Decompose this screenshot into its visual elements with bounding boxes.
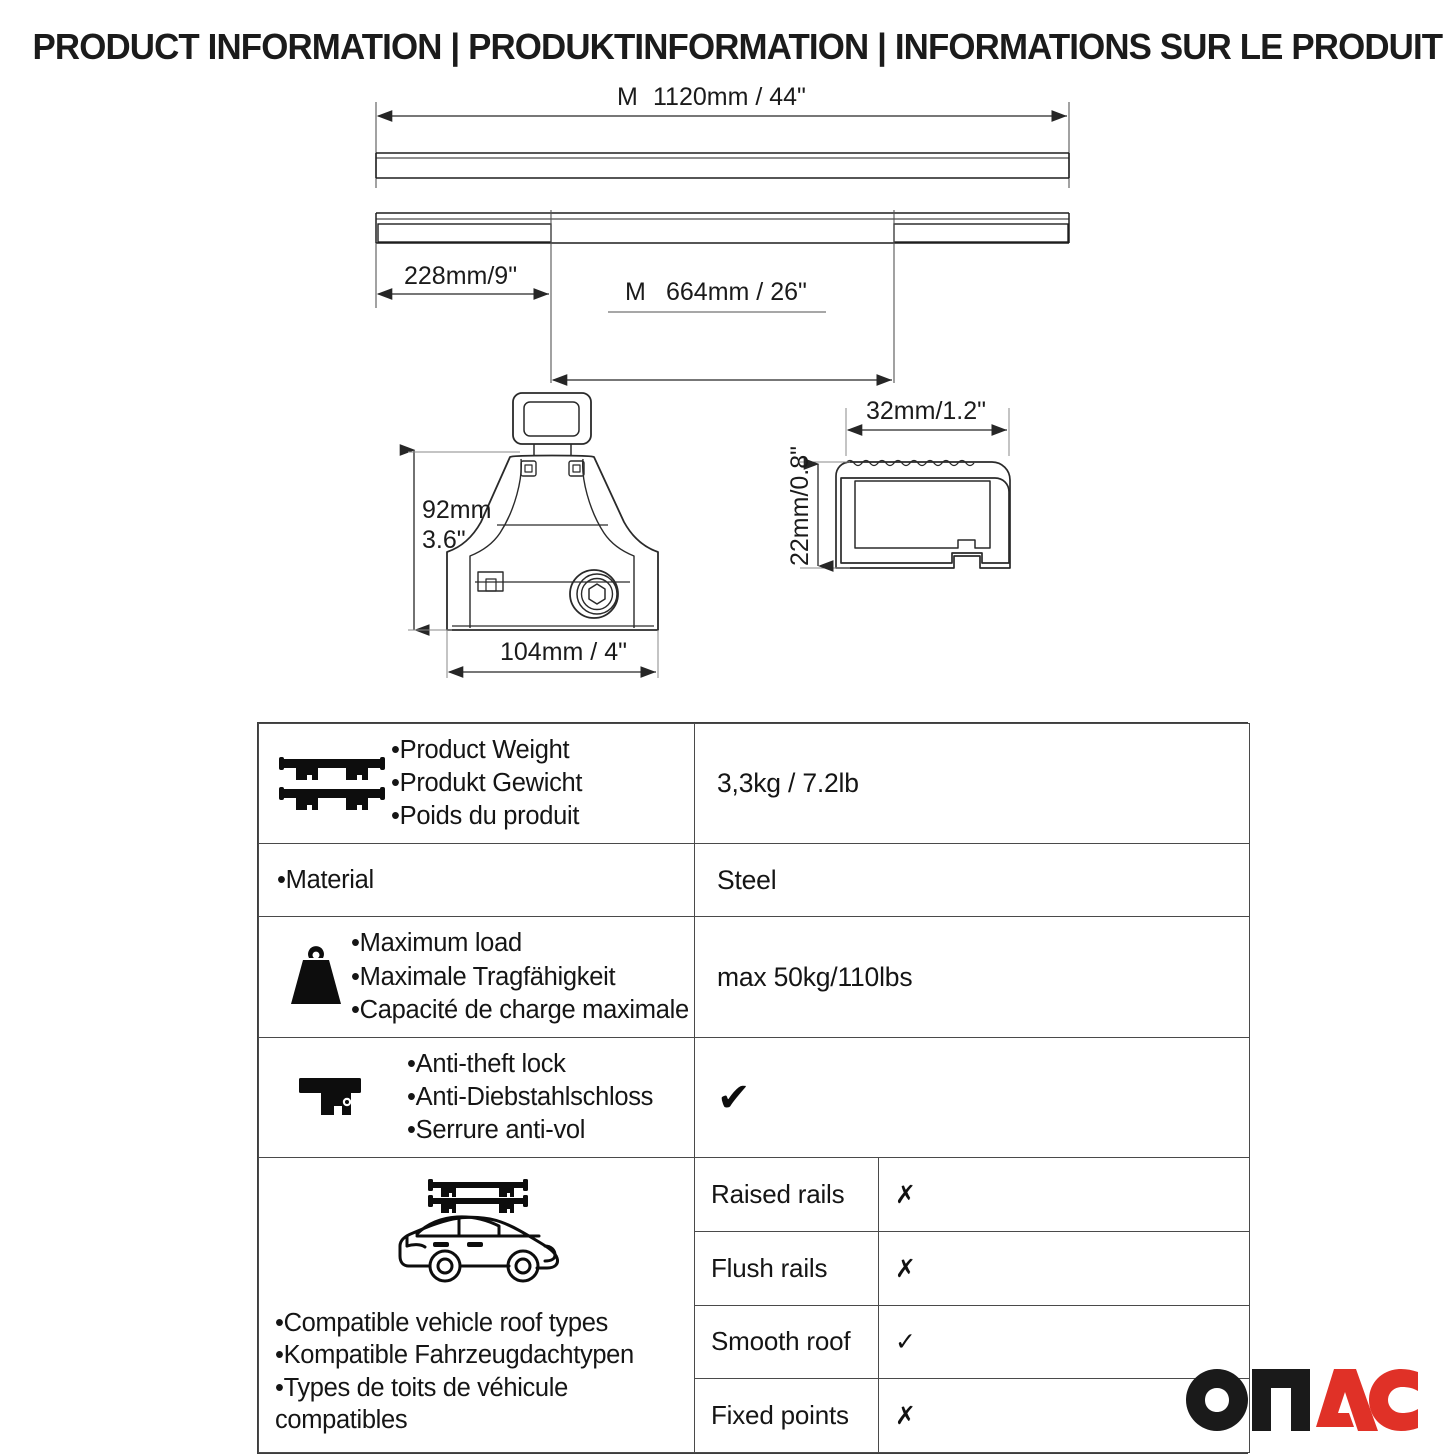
- roof-type-flush-rails-mark: ✗: [879, 1240, 1249, 1297]
- weight-label-en: •Product Weight: [391, 734, 688, 767]
- weight-label-cell: •Product Weight •Produkt Gewicht •Poids …: [259, 724, 695, 844]
- weight-label-de: •Produkt Gewicht: [391, 767, 688, 800]
- bar-profile-with-feet: [376, 213, 1069, 243]
- roof-type-smooth-roof-label: Smooth roof: [695, 1312, 878, 1371]
- lock-icon: [273, 1074, 391, 1122]
- maxload-label-cell: •Maximum load •Maximale Tragfähigkeit •C…: [259, 917, 695, 1037]
- compatibility-label-de: •Kompatible Fahrzeugdachtypen: [275, 1339, 684, 1371]
- maxload-label-fr: •Capacité de charge maximale: [351, 994, 689, 1027]
- profile-cross-section: [836, 461, 1010, 569]
- profile-width-value: 32mm/1.2": [866, 397, 986, 425]
- lock-value-cell: ✔: [695, 1037, 1250, 1157]
- foot-spacing-value: 664mm / 26": [666, 278, 807, 306]
- profile-width-dimension: 32mm/1.2": [846, 397, 1009, 456]
- roof-type-mark-cell: ✗: [879, 1231, 1250, 1305]
- foot-height-dimension: 92mm 3.6": [408, 450, 520, 630]
- roof-type-raised-rails-label: Raised rails: [695, 1165, 878, 1224]
- maxload-value: max 50kg/110lbs: [695, 952, 1249, 1003]
- foot-width-value: 104mm / 4": [500, 638, 627, 666]
- weight-icon: [273, 944, 359, 1010]
- foot-height-line1: 92mm: [422, 496, 491, 524]
- table-row-compatibility: •Compatible vehicle roof types •Kompatib…: [259, 1158, 1250, 1232]
- weight-value: 3,3kg / 7.2lb: [695, 758, 1249, 809]
- material-value: Steel: [695, 855, 1249, 906]
- bar-length-dimension: M 1120mm / 44": [376, 83, 1069, 188]
- table-row: •Material Steel: [259, 844, 1250, 917]
- omac-logo: [1186, 1369, 1418, 1431]
- maxload-label-text: •Maximum load •Maximale Tragfähigkeit •C…: [351, 927, 689, 1026]
- bar-profile-top: [376, 153, 1069, 178]
- foot-width-dimension: 104mm / 4": [447, 630, 658, 678]
- bar-length-value: 1120mm / 44": [653, 83, 806, 111]
- roof-type-smooth-roof-mark: ✓: [879, 1313, 1249, 1370]
- page-title: PRODUCT INFORMATION | PRODUKTINFORMATION…: [33, 26, 1413, 68]
- lock-label-de: •Anti-Diebstahlschloss: [407, 1081, 688, 1114]
- roof-type-name-cell: Raised rails: [695, 1158, 879, 1232]
- specification-table: •Product Weight •Produkt Gewicht •Poids …: [257, 722, 1248, 1454]
- roof-type-name-cell: Flush rails: [695, 1231, 879, 1305]
- lock-checkmark: ✔: [695, 1074, 1249, 1122]
- table-row: •Anti-theft lock •Anti-Diebstahlschloss …: [259, 1037, 1250, 1157]
- material-label-en: •Material: [277, 864, 688, 897]
- technical-drawings: M 1120mm / 44" 228mm/9" M: [0, 78, 1445, 718]
- logo-letter-c: [1369, 1369, 1418, 1431]
- bar-length-prefix: M: [617, 83, 638, 111]
- table-row: •Maximum load •Maximale Tragfähigkeit •C…: [259, 917, 1250, 1037]
- material-value-cell: Steel: [695, 844, 1250, 917]
- foot-offset-dimension: 228mm/9": [378, 262, 549, 294]
- foot-spacing-prefix: M: [625, 278, 646, 306]
- logo-letter-m: [1252, 1369, 1310, 1431]
- material-label-cell: •Material: [259, 844, 695, 917]
- roof-type-fixed-points-label: Fixed points: [695, 1386, 878, 1445]
- foot-spacing-dimension: M 664mm / 26": [553, 278, 892, 380]
- car-with-rack-icon: [387, 1273, 572, 1290]
- foot-height-line2: 3.6": [422, 526, 466, 554]
- roof-type-name-cell: Fixed points: [695, 1379, 879, 1453]
- material-label-text: •Material: [273, 864, 688, 897]
- lock-label-text: •Anti-theft lock •Anti-Diebstahlschloss …: [407, 1048, 688, 1147]
- compatibility-label-text: •Compatible vehicle roof types •Kompatib…: [275, 1307, 684, 1436]
- profile-height-value: 22mm/0.8": [786, 446, 814, 566]
- roof-type-flush-rails-label: Flush rails: [695, 1239, 878, 1298]
- compatibility-label-cell: •Compatible vehicle roof types •Kompatib…: [259, 1158, 695, 1453]
- logo-letter-o: [1186, 1369, 1248, 1431]
- weight-label-text: •Product Weight •Produkt Gewicht •Poids …: [391, 734, 688, 833]
- weight-label-fr: •Poids du produit: [391, 800, 688, 833]
- lock-label-fr: •Serrure anti-vol: [407, 1114, 688, 1147]
- lock-label-cell: •Anti-theft lock •Anti-Diebstahlschloss …: [259, 1037, 695, 1157]
- logo-letter-a: [1316, 1369, 1378, 1431]
- roof-type-raised-rails-mark: ✗: [879, 1166, 1249, 1223]
- compatibility-label-en: •Compatible vehicle roof types: [275, 1307, 684, 1339]
- roof-type-mark-cell: ✗: [879, 1158, 1250, 1232]
- roof-type-name-cell: Smooth roof: [695, 1305, 879, 1379]
- crossbars-icon: [273, 753, 391, 815]
- roof-type-mark-cell: ✓: [879, 1305, 1250, 1379]
- compatibility-label-fr: •Types de toits de véhicule compatibles: [275, 1372, 684, 1436]
- foot-offset-value: 228mm/9": [404, 262, 517, 290]
- maxload-value-cell: max 50kg/110lbs: [695, 917, 1250, 1037]
- lock-label-en: •Anti-theft lock: [407, 1048, 688, 1081]
- table-row: •Product Weight •Produkt Gewicht •Poids …: [259, 724, 1250, 844]
- weight-value-cell: 3,3kg / 7.2lb: [695, 724, 1250, 844]
- maxload-label-en: •Maximum load: [351, 927, 689, 960]
- maxload-label-de: •Maximale Tragfähigkeit: [351, 961, 689, 994]
